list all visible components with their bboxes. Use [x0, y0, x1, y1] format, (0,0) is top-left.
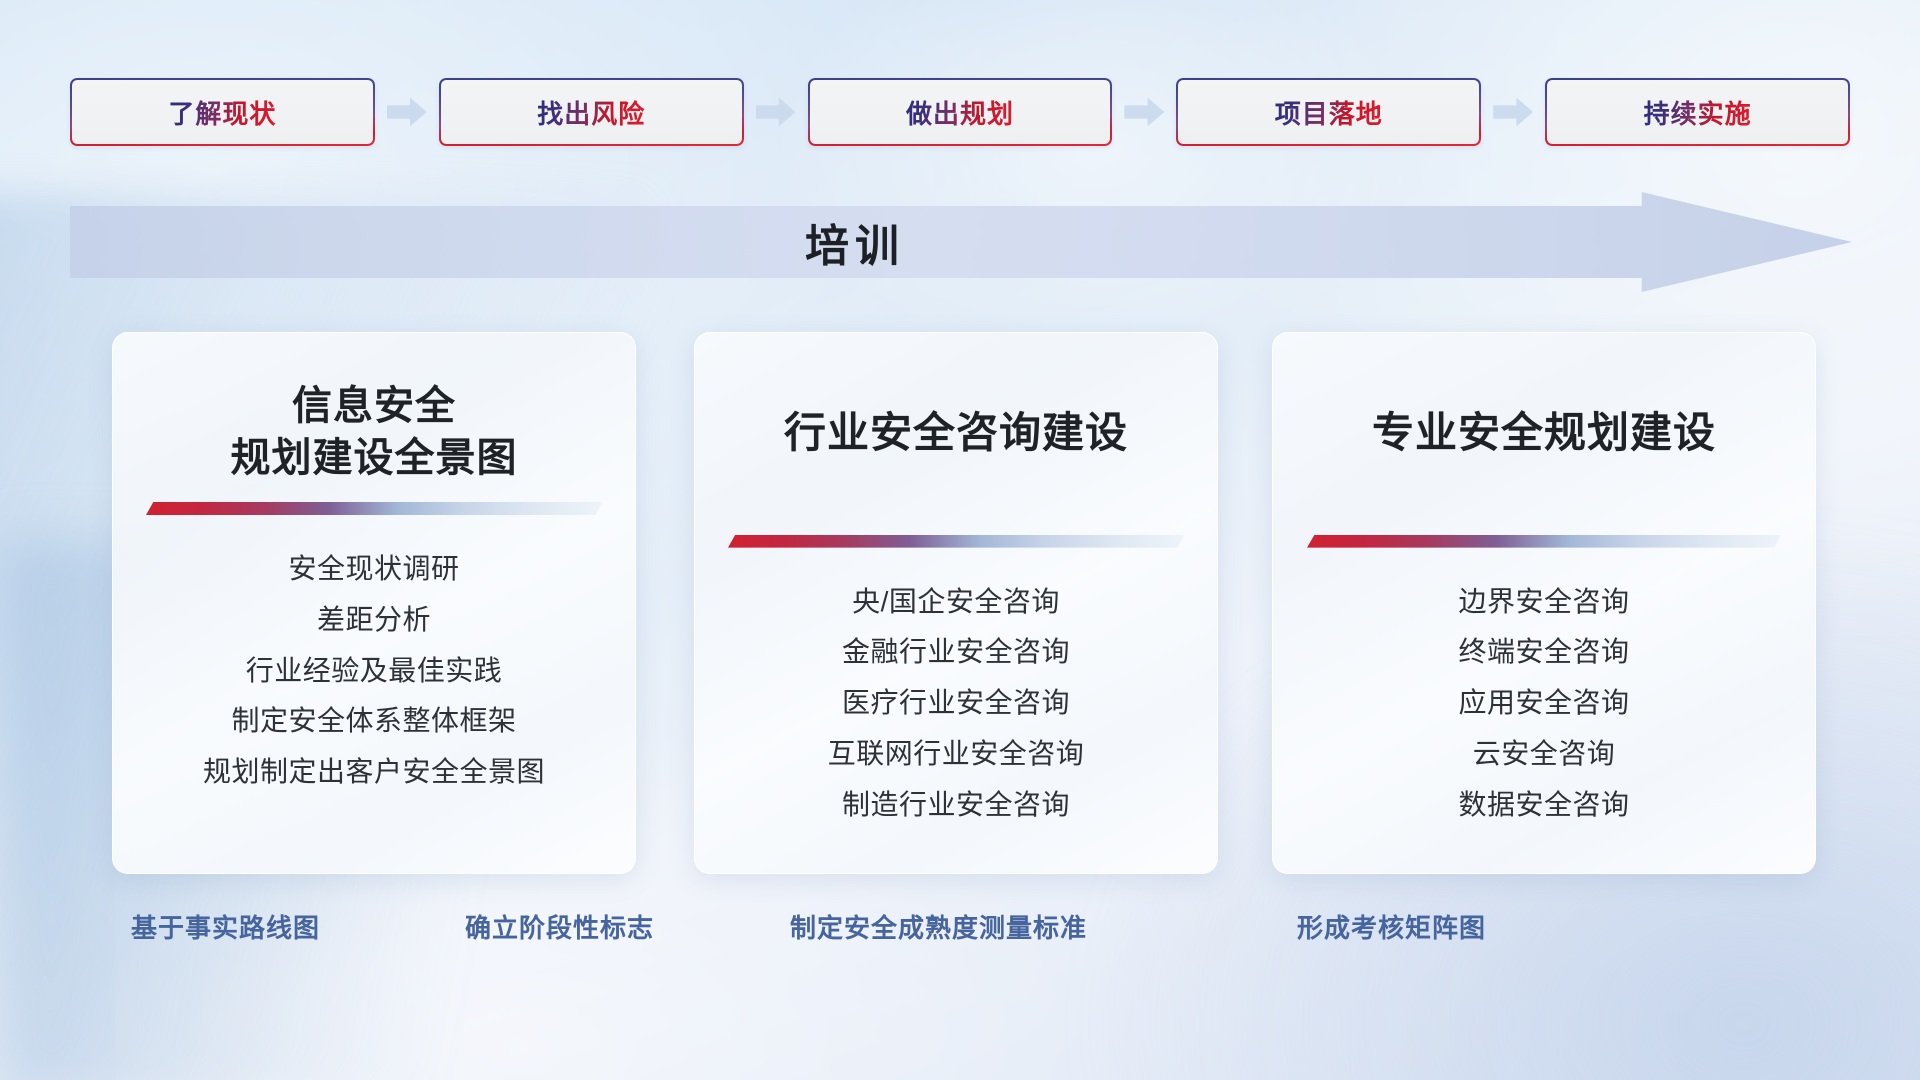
card-2-title: 行业安全咨询建设	[784, 406, 1128, 461]
card-professional-security-planning[interactable]: 专业安全规划建设 边界安全咨询 终端安全咨询 应用安全咨询 云安全咨询 数据安全…	[1272, 332, 1816, 874]
footer-label-2: 确立阶段性标志	[465, 908, 654, 945]
list-item: 互联网行业安全咨询	[828, 734, 1085, 774]
card-3-list: 边界安全咨询 终端安全咨询 应用安全咨询 云安全咨询 数据安全咨询	[1458, 582, 1629, 825]
process-step-4[interactable]: 项目落地	[1176, 78, 1481, 146]
list-item: 行业经验及最佳实践	[246, 651, 503, 691]
card-1-list: 安全现状调研 差距分析 行业经验及最佳实践 制定安全体系整体框架 规划制定出客户…	[203, 549, 545, 792]
process-step-1-label: 了解现状	[168, 94, 276, 131]
process-step-5[interactable]: 持续实施	[1545, 78, 1850, 146]
process-step-3[interactable]: 做出规划	[808, 78, 1113, 146]
card-2-divider	[728, 535, 1184, 548]
list-item: 云安全咨询	[1473, 734, 1616, 774]
list-item: 制定安全体系整体框架	[231, 701, 516, 741]
card-2-title-line-1: 行业安全咨询建设	[784, 406, 1128, 461]
card-3-title: 专业安全规划建设	[1372, 406, 1716, 461]
card-1-title-line-1: 信息安全	[231, 380, 518, 432]
card-3-divider	[1307, 535, 1781, 548]
list-item: 央/国企安全咨询	[852, 582, 1060, 622]
list-item: 差距分析	[317, 600, 431, 640]
list-item: 边界安全咨询	[1458, 582, 1629, 622]
card-1-title: 信息安全 规划建设全景图	[231, 380, 518, 484]
process-step-2-label: 找出风险	[537, 94, 645, 131]
list-item: 金融行业安全咨询	[842, 632, 1070, 672]
arrow-right-icon	[1493, 97, 1533, 127]
process-step-3-label: 做出规划	[906, 94, 1014, 131]
card-industry-security-consulting[interactable]: 行业安全咨询建设 央/国企安全咨询 金融行业安全咨询 医疗行业安全咨询 互联网行…	[694, 332, 1218, 874]
footer-label-1: 基于事实路线图	[131, 908, 320, 945]
process-step-5-label: 持续实施	[1644, 94, 1752, 131]
training-banner-title: 培训	[70, 192, 1640, 292]
list-item: 医疗行业安全咨询	[842, 683, 1070, 723]
process-step-4-label: 项目落地	[1275, 94, 1383, 131]
card-row: 信息安全 规划建设全景图 安全现状调研 差距分析 行业经验及最佳实践 制定安全体…	[0, 332, 1920, 874]
list-item: 数据安全咨询	[1458, 785, 1629, 825]
card-information-security-blueprint[interactable]: 信息安全 规划建设全景图 安全现状调研 差距分析 行业经验及最佳实践 制定安全体…	[112, 332, 636, 874]
process-step-2[interactable]: 找出风险	[439, 78, 744, 146]
process-step-1[interactable]: 了解现状	[70, 78, 375, 146]
arrow-right-icon	[756, 97, 796, 127]
card-1-divider	[146, 502, 602, 515]
arrow-right-icon	[387, 97, 427, 127]
footer-label-4: 形成考核矩阵图	[1297, 908, 1486, 945]
list-item: 规划制定出客户安全全景图	[203, 752, 545, 792]
card-3-title-line-1: 专业安全规划建设	[1372, 406, 1716, 461]
list-item: 终端安全咨询	[1458, 632, 1629, 672]
slide-canvas: 了解现状 找出风险 做出规划 项目落地 持续实施 培训	[0, 0, 1920, 1080]
process-step-row: 了解现状 找出风险 做出规划 项目落地 持续实施	[70, 78, 1850, 146]
list-item: 安全现状调研	[288, 549, 459, 589]
arrow-right-icon	[1124, 97, 1164, 127]
list-item: 制造行业安全咨询	[842, 785, 1070, 825]
step-connector-1	[375, 78, 439, 146]
step-connector-3	[1112, 78, 1176, 146]
list-item: 应用安全咨询	[1458, 683, 1629, 723]
footer-label-3: 制定安全成熟度测量标准	[790, 908, 1087, 945]
step-connector-4	[1481, 78, 1545, 146]
step-connector-2	[744, 78, 808, 146]
training-banner: 培训	[70, 192, 1852, 292]
card-2-list: 央/国企安全咨询 金融行业安全咨询 医疗行业安全咨询 互联网行业安全咨询 制造行…	[828, 582, 1085, 825]
card-1-title-line-2: 规划建设全景图	[231, 432, 518, 484]
footer-label-row: 基于事实路线图 确立阶段性标志 制定安全成熟度测量标准 形成考核矩阵图	[0, 908, 1920, 968]
